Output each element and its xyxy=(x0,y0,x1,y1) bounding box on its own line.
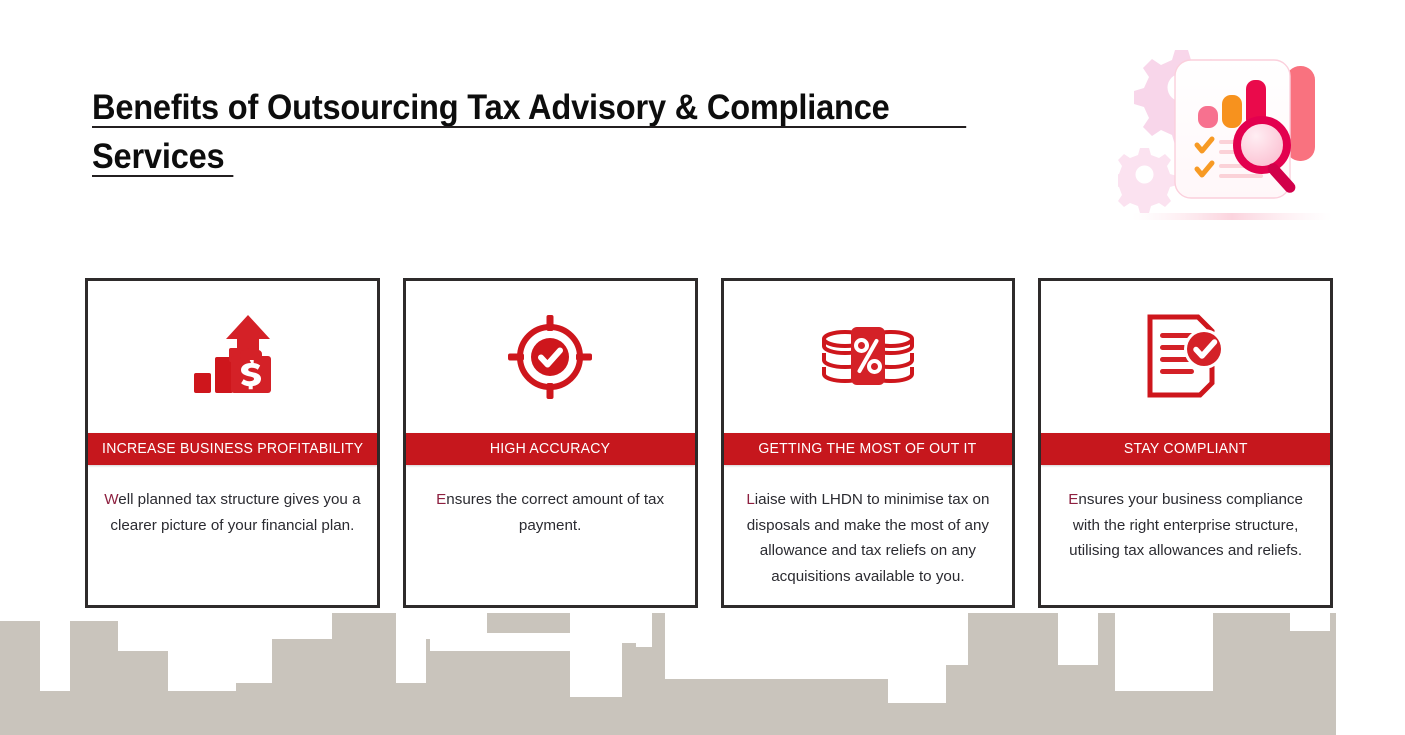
card-heading-band: GETTING THE MOST OF OUT IT xyxy=(724,433,1013,465)
card-heading-band: INCREASE BUSINESS PROFITABILITY xyxy=(88,433,377,465)
card-heading-label: GETTING THE MOST OF OUT IT xyxy=(759,441,977,457)
card-description: Liaise with LHDN to minimise tax on disp… xyxy=(738,487,999,589)
card-description-rest: nsures your business compliance with the… xyxy=(1069,491,1303,559)
card-body: Ensures your business compliance with th… xyxy=(1041,465,1330,605)
bar-orange xyxy=(1222,95,1242,128)
benefit-card-getting-the-most-of-out-it[interactable]: GETTING THE MOST OF OUT IT Liaise with L… xyxy=(721,278,1016,608)
card-heading-label: HIGH ACCURACY xyxy=(490,441,610,457)
benefit-card-increase-business-profitability[interactable]: INCREASE BUSINESS PROFITABILITY Well pla… xyxy=(85,278,380,608)
card-description-rest: nsures the correct amount of tax payment… xyxy=(446,491,664,534)
page-title-line-1: Benefits of Outsourcing Tax Advisory & C… xyxy=(92,83,920,132)
benefit-card-stay-compliant[interactable]: STAY COMPLIANT Ensures your business com… xyxy=(1038,278,1333,608)
card-description: Ensures the correct amount of tax paymen… xyxy=(420,487,681,538)
card-heading-band: STAY COMPLIANT xyxy=(1041,433,1330,465)
page-title-underline-2 xyxy=(92,175,233,177)
card-body: Liaise with LHDN to minimise tax on disp… xyxy=(724,465,1013,605)
slide-canvas: Benefits of Outsourcing Tax Advisory & C… xyxy=(0,0,1405,735)
page-title-line-1-text: Benefits of Outsourcing Tax Advisory & C… xyxy=(92,88,890,127)
card-description-lead: E xyxy=(436,491,446,508)
page-title-underline-1 xyxy=(92,126,966,128)
target-checkmark-icon xyxy=(406,281,695,433)
tax-report-analysis-illustration xyxy=(1118,38,1346,233)
document-approved-icon xyxy=(1041,281,1330,433)
card-heading-band: HIGH ACCURACY xyxy=(406,433,695,465)
card-body: Well planned tax structure gives you a c… xyxy=(88,465,377,605)
card-description-rest: ell planned tax structure gives you a cl… xyxy=(110,491,360,534)
card-heading-label: STAY COMPLIANT xyxy=(1124,441,1248,457)
bar-pink xyxy=(1198,106,1218,128)
card-description: Ensures your business compliance with th… xyxy=(1055,487,1316,564)
page-title: Benefits of Outsourcing Tax Advisory & C… xyxy=(92,83,982,181)
card-description-lead: E xyxy=(1068,491,1078,508)
card-heading-label: INCREASE BUSINESS PROFITABILITY xyxy=(102,441,363,457)
benefit-card-high-accuracy[interactable]: HIGH ACCURACY Ensures the correct amount… xyxy=(403,278,698,608)
card-body: Ensures the correct amount of tax paymen… xyxy=(406,465,695,605)
card-description-rest: iaise with LHDN to minimise tax on dispo… xyxy=(747,491,990,585)
benefit-cards-row: INCREASE BUSINESS PROFITABILITY Well pla… xyxy=(85,278,1333,608)
card-description-lead: L xyxy=(746,491,754,508)
gear-small-icon xyxy=(1118,148,1177,213)
card-description: Well planned tax structure gives you a c… xyxy=(102,487,363,538)
page-title-line-2: Services xyxy=(92,132,920,181)
illustration-shadow xyxy=(1132,213,1332,220)
coins-percent-icon xyxy=(724,281,1013,433)
profit-growth-briefcase-icon xyxy=(88,281,377,433)
card-description-lead: W xyxy=(104,491,118,508)
page-title-line-2-text: Services xyxy=(92,137,224,176)
